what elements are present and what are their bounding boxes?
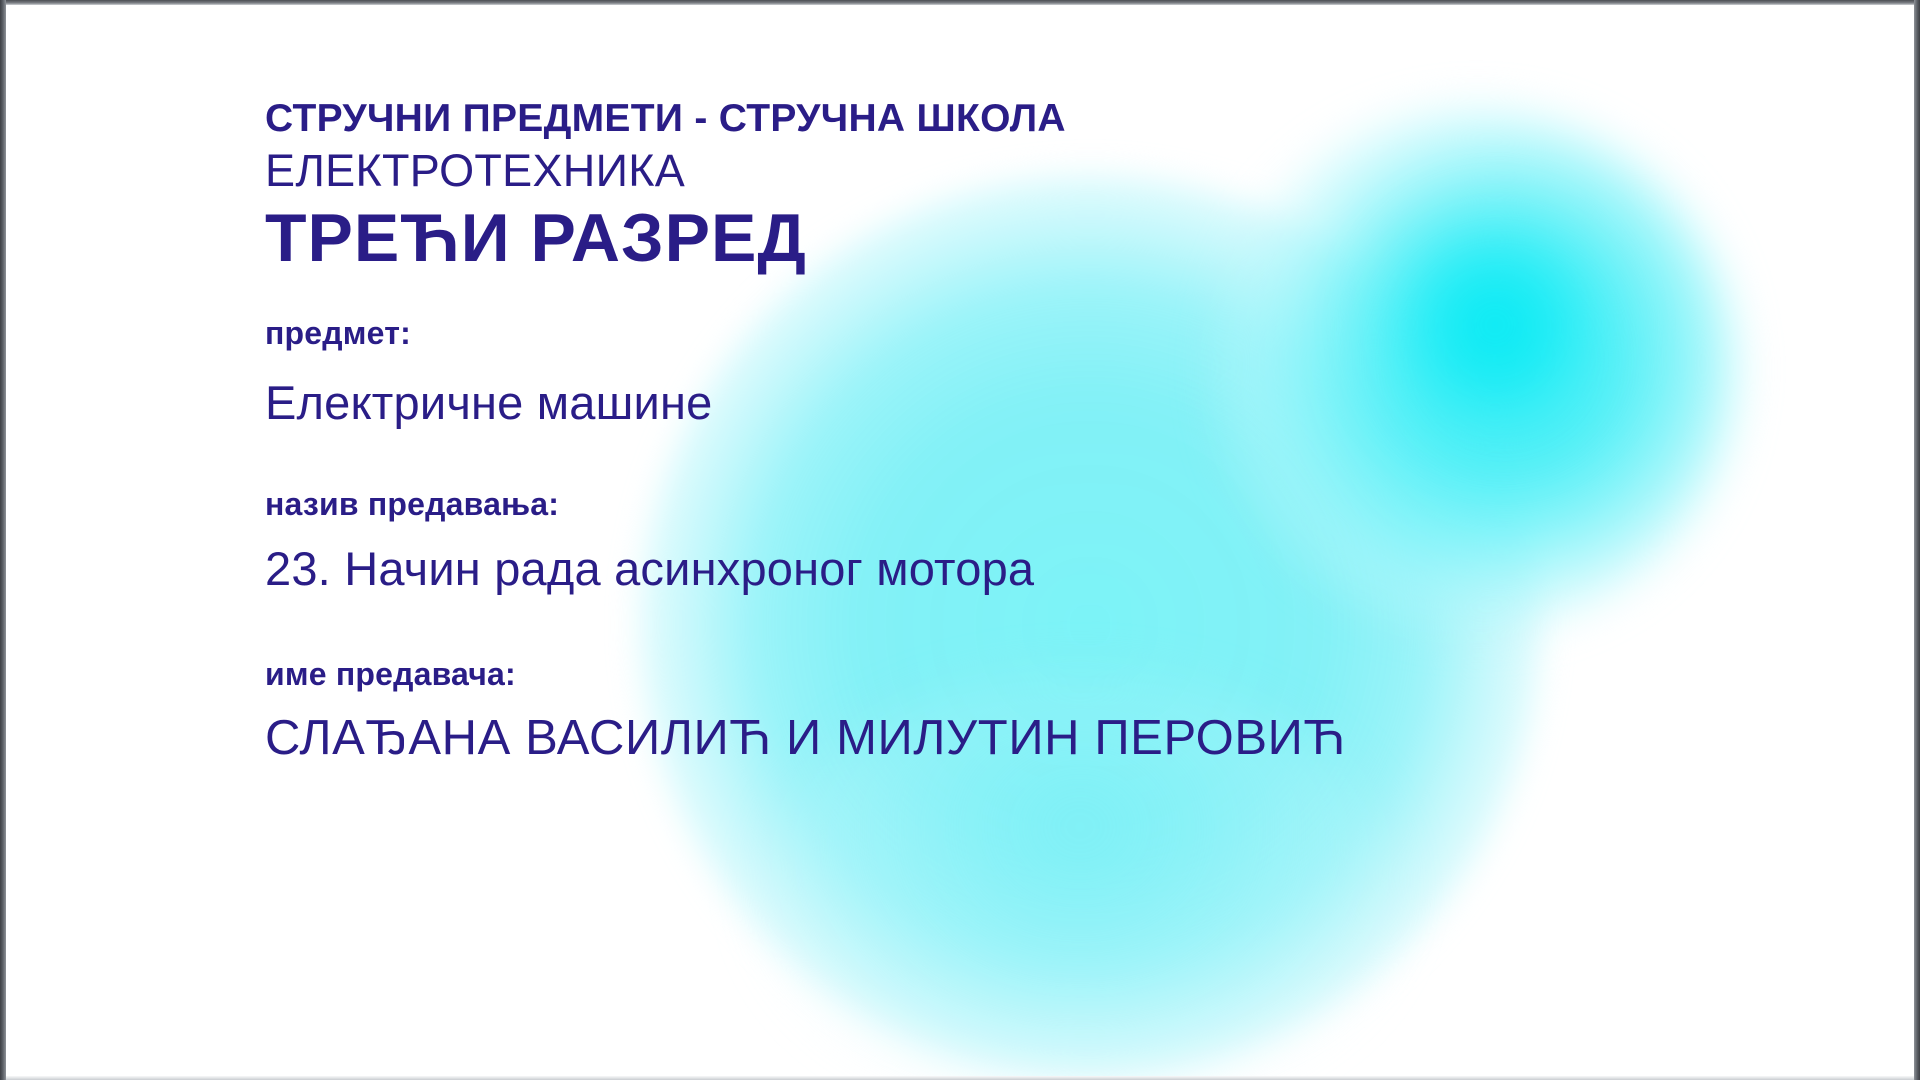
lecture-label: назив предавања: [265, 485, 1346, 523]
program-header: СТРУЧНИ ПРЕДМЕТИ - СТРУЧНА ШКОЛА [265, 96, 1346, 141]
grade-title: ТРЕЋИ РАЗРЕД [265, 200, 1346, 276]
title-card-stage: СТРУЧНИ ПРЕДМЕТИ - СТРУЧНА ШКОЛА ЕЛЕКТРО… [0, 0, 1920, 1080]
frame-edge-bottom [0, 1076, 1920, 1080]
department-title: ЕЛЕКТРОТЕХНИКА [265, 144, 1346, 198]
cyan-blob-corner-core [1370, 200, 1620, 450]
lecture-title-value: 23. Начин рада асинхроног мотора [265, 541, 1346, 597]
lecturer-value: СЛАЂАНА ВАСИЛИЋ И МИЛУТИН ПЕРОВИЋ [265, 709, 1346, 768]
frame-edge-right [1914, 0, 1920, 1080]
frame-edge-left [0, 0, 6, 1080]
subject-value: Електричне машине [265, 375, 1346, 431]
title-text-block: СТРУЧНИ ПРЕДМЕТИ - СТРУЧНА ШКОЛА ЕЛЕКТРО… [265, 96, 1346, 768]
frame-edge-top [0, 0, 1920, 5]
subject-label: предмет: [265, 314, 1346, 352]
lecturer-label: име предавача: [265, 655, 1346, 693]
